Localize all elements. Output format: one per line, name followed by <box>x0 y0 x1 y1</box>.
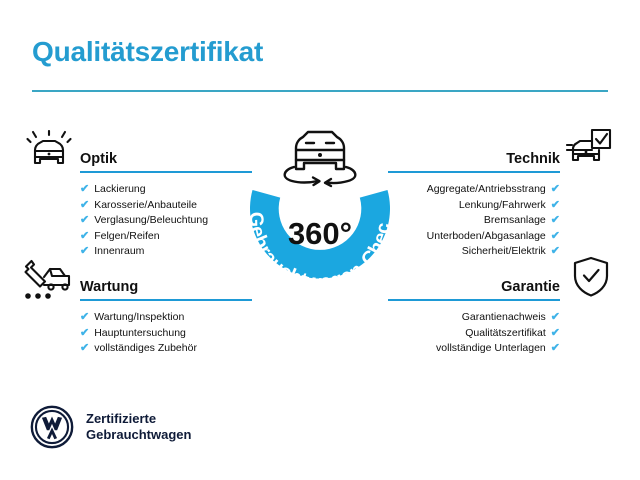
car-front-rotation-icon <box>275 120 365 197</box>
list-item: ✔Innenraum <box>80 244 252 260</box>
check-icon: ✔ <box>551 213 560 229</box>
list-item: ✔Hauptuntersuchung <box>80 326 252 342</box>
footer-line-2: Gebrauchtwagen <box>86 427 191 443</box>
section-divider-optik <box>80 171 252 173</box>
checklist-garantie: ✔Garantienachweis ✔Qualitätszertifikat ✔… <box>388 310 560 357</box>
wrench-car-icon <box>22 258 72 307</box>
check-icon: ✔ <box>80 229 89 245</box>
footer-logo-text: Zertifizierte Gebrauchtwagen <box>86 411 191 443</box>
check-icon: ✔ <box>80 213 89 229</box>
list-item-label: Aggregate/Antriebsstrang <box>427 182 546 198</box>
list-item: ✔Karosserie/Anbauteile <box>80 198 252 214</box>
list-item-label: Felgen/Reifen <box>94 229 159 245</box>
check-icon: ✔ <box>80 182 89 198</box>
car-checkbox-icon <box>566 128 612 177</box>
check-icon: ✔ <box>551 310 560 326</box>
list-item-label: Innenraum <box>94 244 144 260</box>
list-item: ✔Aggregate/Antriebsstrang <box>388 182 560 198</box>
section-header: Wartung <box>80 271 252 301</box>
check-icon: ✔ <box>551 229 560 245</box>
list-item-label: vollständiges Zubehör <box>94 341 197 357</box>
section-divider-technik <box>388 171 560 173</box>
list-item-label: Hauptuntersuchung <box>94 326 186 342</box>
list-item-label: Wartung/Inspektion <box>94 310 184 326</box>
list-item-label: Qualitätszertifikat <box>465 326 546 342</box>
list-item: ✔Sicherheit/Elektrik <box>388 244 560 260</box>
car-shine-icon <box>26 130 72 177</box>
section-title-optik: Optik <box>80 151 117 167</box>
list-item-label: vollständige Unterlagen <box>436 341 546 357</box>
list-item: ✔Lenkung/Fahrwerk <box>388 198 560 214</box>
list-item-label: Sicherheit/Elektrik <box>462 244 546 260</box>
check-icon: ✔ <box>551 182 560 198</box>
list-item: ✔Qualitätszertifikat <box>388 326 560 342</box>
badge-360-gebrauchtwagen-check: Gebrauchtwagen-Check 360° <box>228 118 412 302</box>
list-item: ✔Wartung/Inspektion <box>80 310 252 326</box>
list-item-label: Bremsanlage <box>484 213 546 229</box>
section-optik: Optik ✔Lackierung ✔Karosserie/Anbauteile… <box>80 143 252 260</box>
check-icon: ✔ <box>551 244 560 260</box>
checklist-optik: ✔Lackierung ✔Karosserie/Anbauteile ✔Verg… <box>80 182 252 260</box>
check-icon: ✔ <box>80 310 89 326</box>
check-icon: ✔ <box>551 341 560 357</box>
section-wartung: Wartung ✔Wartung/Inspektion ✔Hauptunters… <box>80 271 252 357</box>
section-divider-wartung <box>80 299 252 301</box>
section-header: Garantie <box>388 271 560 301</box>
certificate-page: Qualitätszertifikat <box>0 0 640 480</box>
check-icon: ✔ <box>80 341 89 357</box>
section-title-garantie: Garantie <box>501 279 560 295</box>
list-item: ✔Unterboden/Abgasanlage <box>388 229 560 245</box>
check-icon: ✔ <box>551 198 560 214</box>
list-item: ✔Garantienachweis <box>388 310 560 326</box>
list-item: ✔Felgen/Reifen <box>80 229 252 245</box>
page-title: Qualitätszertifikat <box>32 36 263 68</box>
check-icon: ✔ <box>80 198 89 214</box>
list-item-label: Unterboden/Abgasanlage <box>427 229 546 245</box>
check-icon: ✔ <box>551 326 560 342</box>
checklist-wartung: ✔Wartung/Inspektion ✔Hauptuntersuchung ✔… <box>80 310 252 357</box>
list-item-label: Lackierung <box>94 182 145 198</box>
section-header: Technik <box>388 143 560 173</box>
list-item: ✔Bremsanlage <box>388 213 560 229</box>
section-garantie: Garantie ✔Garantienachweis ✔Qualitätszer… <box>388 271 560 357</box>
section-technik: Technik ✔Aggregate/Antriebsstrang ✔Lenku… <box>388 143 560 260</box>
section-header: Optik <box>80 143 252 173</box>
check-icon: ✔ <box>80 244 89 260</box>
section-title-technik: Technik <box>506 151 560 167</box>
list-item-label: Karosserie/Anbauteile <box>94 198 197 214</box>
list-item: ✔vollständiges Zubehör <box>80 341 252 357</box>
badge-center-label: 360° <box>228 216 412 252</box>
shield-check-icon <box>572 256 610 303</box>
list-item-label: Garantienachweis <box>462 310 546 326</box>
list-item: ✔Lackierung <box>80 182 252 198</box>
list-item-label: Verglasung/Beleuchtung <box>94 213 208 229</box>
checklist-technik: ✔Aggregate/Antriebsstrang ✔Lenkung/Fahrw… <box>388 182 560 260</box>
title-divider <box>32 90 608 92</box>
footer-line-1: Zertifizierte <box>86 411 191 427</box>
vw-logo-icon <box>30 405 74 449</box>
list-item: ✔vollständige Unterlagen <box>388 341 560 357</box>
list-item: ✔Verglasung/Beleuchtung <box>80 213 252 229</box>
section-divider-garantie <box>388 299 560 301</box>
footer-logo-block: Zertifizierte Gebrauchtwagen <box>30 405 191 449</box>
check-icon: ✔ <box>80 326 89 342</box>
list-item-label: Lenkung/Fahrwerk <box>459 198 546 214</box>
section-title-wartung: Wartung <box>80 279 138 295</box>
